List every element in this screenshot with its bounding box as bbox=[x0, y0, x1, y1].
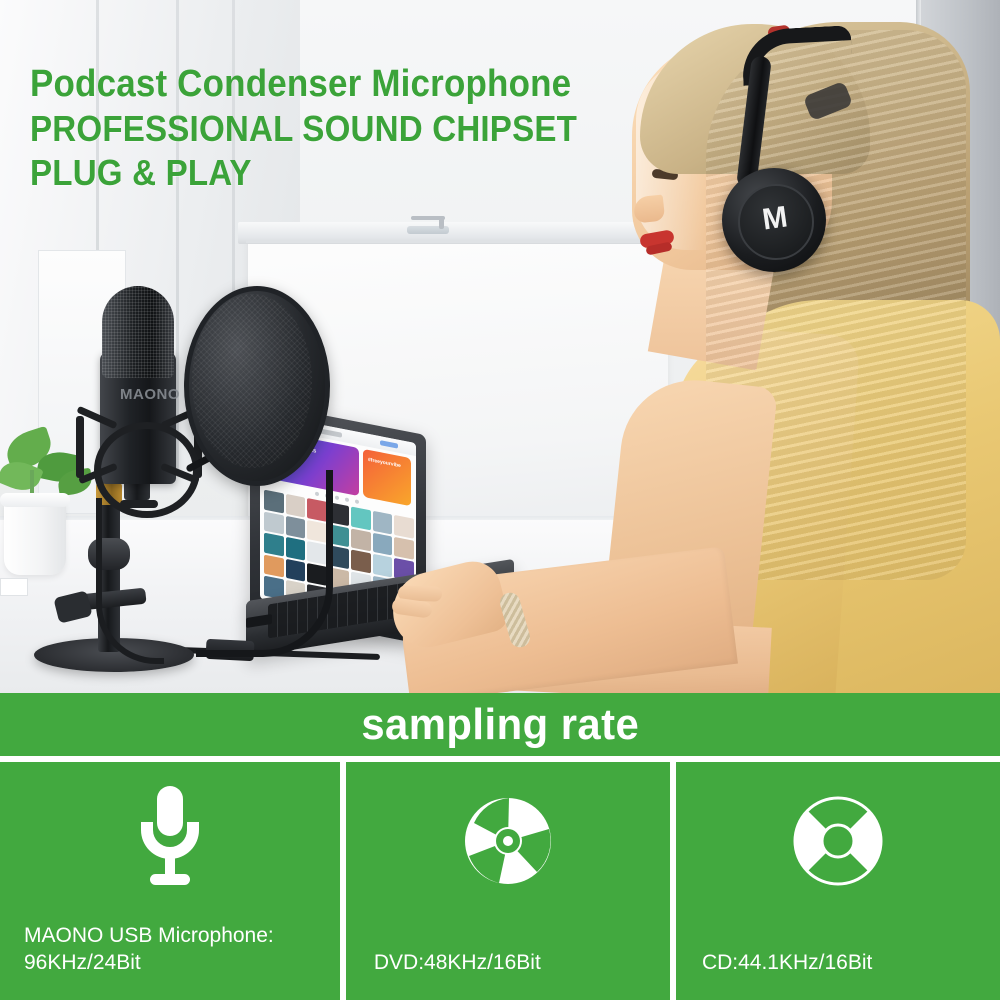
board-edge-line bbox=[246, 240, 670, 243]
dvd-disc-icon bbox=[346, 796, 670, 886]
maono-brand-logo: MAONO bbox=[120, 386, 154, 406]
spec-card-row: MAONO USB Microphone: 96KHz/24Bit bbox=[0, 762, 1000, 1000]
pop-filter-gooseneck bbox=[196, 470, 333, 657]
spec-label-microphone: MAONO USB Microphone: 96KHz/24Bit bbox=[0, 922, 340, 976]
pop-filter-mesh bbox=[192, 294, 312, 468]
spec-panel-title: sampling rate bbox=[0, 693, 1000, 756]
sampling-rate-panel: sampling rate MAONO USB Microphone: 96KH… bbox=[0, 693, 1000, 1000]
maono-m-logo: M bbox=[752, 195, 797, 242]
headline-line-2: PROFESSIONAL SOUND CHIPSET bbox=[30, 107, 619, 151]
headline-line-3: PLUG & PLAY bbox=[30, 151, 619, 195]
spec-label-cd: CD:44.1KHz/16Bit bbox=[676, 949, 1000, 976]
screen-banner-secondary: #freeyourvibe bbox=[363, 449, 411, 506]
spec-card-microphone: MAONO USB Microphone: 96KHz/24Bit bbox=[0, 762, 340, 1000]
plant-pot-rim bbox=[0, 493, 70, 507]
cd-disc-icon bbox=[676, 796, 1000, 886]
spec-card-dvd: DVD:48KHz/16Bit bbox=[346, 762, 670, 1000]
product-marketing-image: M Color search is back. #freeyourvibe bbox=[0, 0, 1000, 1000]
headline-line-1: Podcast Condenser Microphone bbox=[30, 62, 619, 107]
spec-title-text: sampling rate bbox=[361, 700, 639, 750]
shock-mount bbox=[74, 408, 204, 516]
microphone-icon bbox=[0, 784, 340, 888]
spec-card-cd: CD:44.1KHz/16Bit bbox=[676, 762, 1000, 1000]
spec-label-dvd: DVD:48KHz/16Bit bbox=[346, 949, 670, 976]
shelf-bracket-icon bbox=[405, 212, 451, 234]
headline-block: Podcast Condenser Microphone PROFESSIONA… bbox=[30, 62, 670, 195]
microphone-grille bbox=[102, 286, 174, 378]
product-photo-scene: M Color search is back. #freeyourvibe bbox=[0, 0, 1000, 693]
desk-label-tag bbox=[0, 578, 28, 596]
plant-pot bbox=[4, 497, 66, 575]
